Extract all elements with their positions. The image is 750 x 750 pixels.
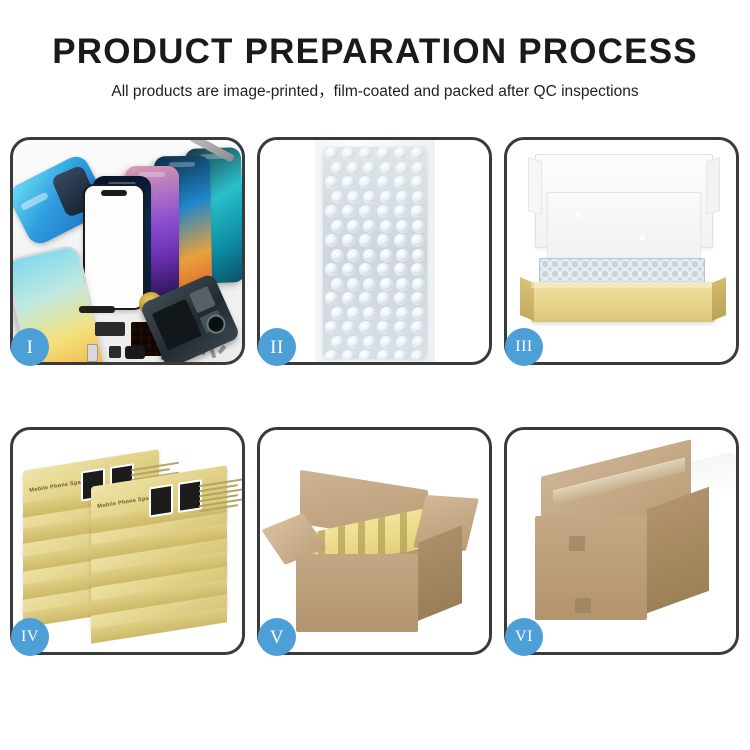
bubble	[331, 220, 344, 233]
bubble	[359, 147, 372, 160]
bubble	[347, 278, 360, 291]
bubble	[380, 249, 393, 262]
bubble	[411, 321, 424, 334]
step-panel-3: III	[504, 137, 739, 365]
bubble	[380, 191, 393, 204]
carton-right-face	[418, 525, 462, 621]
bubble	[331, 249, 344, 262]
steps-grid: I II III	[10, 137, 740, 682]
bubble	[411, 176, 424, 189]
carton-handle-tab-top	[569, 536, 585, 551]
step-1-image	[13, 140, 242, 362]
bubble	[359, 263, 372, 276]
bubble	[377, 321, 390, 334]
bubble	[412, 336, 425, 349]
bubble	[342, 176, 355, 189]
page-subtitle: All products are image-printed，film-coat…	[0, 81, 750, 103]
phone-fan-group	[79, 146, 242, 306]
bubble-row	[323, 321, 427, 336]
bubble	[347, 336, 360, 349]
bubble-wrap-icon	[323, 147, 427, 359]
bubble	[412, 162, 425, 175]
bubble	[347, 307, 360, 320]
bubble	[331, 162, 344, 175]
step-2-image	[260, 140, 489, 362]
bubble	[342, 205, 355, 218]
bubble	[325, 147, 338, 160]
film-notch	[20, 192, 49, 211]
step-5-image	[260, 430, 489, 652]
bubble-row	[323, 234, 427, 249]
bubble	[380, 336, 393, 349]
bubble	[377, 205, 390, 218]
bubble	[342, 350, 355, 359]
bubble-row	[330, 162, 427, 177]
bubble	[325, 234, 338, 247]
bubble	[331, 191, 344, 204]
bubble	[342, 292, 355, 305]
bubble-row	[323, 176, 427, 191]
speaker-part	[125, 346, 145, 359]
bubble	[347, 162, 360, 175]
bubble	[325, 176, 338, 189]
step-badge-2: II	[258, 328, 296, 366]
bubble	[363, 307, 376, 320]
bubble	[359, 321, 372, 334]
carton-right-face	[647, 487, 709, 614]
step-badge-1: I	[11, 328, 49, 366]
retail-box-stack: Mobile Phone Spare Parts Mobile Phone Sp…	[13, 430, 242, 652]
bubble	[394, 176, 407, 189]
bubble	[396, 191, 409, 204]
step-panel-4: Mobile Phone Spare Parts Mobile Phone Sp…	[10, 427, 245, 655]
flex-strip-part	[79, 306, 115, 313]
step-badge-3: III	[505, 328, 543, 366]
bubble	[347, 249, 360, 262]
carton-handle-tab-bottom	[575, 598, 591, 613]
bubble-row	[330, 336, 427, 351]
bubble	[377, 263, 390, 276]
bubble	[325, 205, 338, 218]
bubble	[394, 234, 407, 247]
step-panel-2: II	[257, 137, 492, 365]
bubble	[363, 220, 376, 233]
bubble	[412, 307, 425, 320]
bubble-row	[330, 307, 427, 322]
page-title: PRODUCT PREPARATION PROCESS	[0, 32, 750, 72]
bubble	[325, 263, 338, 276]
kraft-box-base-icon	[531, 282, 715, 322]
bubble	[331, 336, 344, 349]
bubble	[331, 278, 344, 291]
step-panel-1: I	[10, 137, 245, 365]
bubble	[377, 147, 390, 160]
bubble	[394, 205, 407, 218]
step-badge-4: IV	[11, 618, 49, 656]
foam-sheet-icon	[547, 192, 701, 266]
step-badge-6: VI	[505, 618, 543, 656]
bubble-row	[323, 350, 427, 359]
bubble	[359, 176, 372, 189]
bubble	[342, 147, 355, 160]
carton-front-face	[535, 516, 647, 620]
bubble	[342, 234, 355, 247]
bubble-row	[330, 220, 427, 235]
step-panel-6: VI	[504, 427, 739, 655]
bubble	[412, 220, 425, 233]
bubble	[394, 350, 407, 359]
bubble	[363, 278, 376, 291]
bubble-row	[323, 205, 427, 220]
flex-cable-c-part	[95, 322, 125, 336]
box-thumb-front	[149, 484, 173, 518]
bubble	[377, 234, 390, 247]
bubble	[325, 292, 338, 305]
bubble	[347, 191, 360, 204]
bubble	[359, 234, 372, 247]
bubble	[342, 263, 355, 276]
bubble-row	[330, 249, 427, 264]
bubble	[380, 278, 393, 291]
bubble	[396, 162, 409, 175]
bubble	[342, 321, 355, 334]
header: PRODUCT PREPARATION PROCESS All products…	[0, 0, 750, 103]
bubble	[411, 234, 424, 247]
bubble	[396, 336, 409, 349]
bubble	[396, 278, 409, 291]
carton-front-face	[296, 554, 418, 632]
step-4-image: Mobile Phone Spare Parts Mobile Phone Sp…	[13, 430, 242, 652]
bubble	[377, 292, 390, 305]
small-module-part	[109, 346, 121, 358]
product-preparation-infographic: PRODUCT PREPARATION PROCESS All products…	[0, 0, 750, 750]
bubble	[331, 307, 344, 320]
bubble	[396, 249, 409, 262]
bubble	[411, 147, 424, 160]
bubble	[411, 205, 424, 218]
bubble-row	[323, 292, 427, 307]
bubble	[380, 220, 393, 233]
bubble	[394, 321, 407, 334]
bubble	[380, 162, 393, 175]
bubble	[363, 162, 376, 175]
bubble	[412, 191, 425, 204]
sealed-carton-icon	[533, 458, 717, 630]
bubble	[412, 249, 425, 262]
open-carton-icon	[282, 474, 468, 634]
bubble	[394, 292, 407, 305]
box-lip	[531, 282, 715, 288]
bubble	[394, 263, 407, 276]
bubble	[325, 350, 338, 359]
step-badge-5: V	[258, 618, 296, 656]
bubble	[411, 263, 424, 276]
bubble	[394, 147, 407, 160]
bubble-row	[323, 263, 427, 278]
bubble	[359, 205, 372, 218]
glass-notch	[101, 190, 127, 196]
bubble	[412, 278, 425, 291]
bubble-row	[330, 278, 427, 293]
step-6-image	[507, 430, 736, 652]
bubble	[411, 350, 424, 359]
sim-tray-part	[87, 344, 98, 362]
bubble	[396, 307, 409, 320]
bubble	[359, 350, 372, 359]
retail-box-top-right: Mobile Phone Spare Parts	[91, 476, 227, 510]
step-panel-5: V	[257, 427, 492, 655]
bubble	[363, 249, 376, 262]
bubble	[377, 176, 390, 189]
bubble-row	[330, 191, 427, 206]
bubble	[380, 307, 393, 320]
bubble	[347, 220, 360, 233]
bubble	[396, 220, 409, 233]
bubble	[377, 350, 390, 359]
bubble	[363, 336, 376, 349]
bubble	[359, 292, 372, 305]
bubble	[363, 191, 376, 204]
bubble-row	[323, 147, 427, 162]
step-3-image	[507, 140, 736, 362]
bubble	[325, 321, 338, 334]
bubble	[411, 292, 424, 305]
